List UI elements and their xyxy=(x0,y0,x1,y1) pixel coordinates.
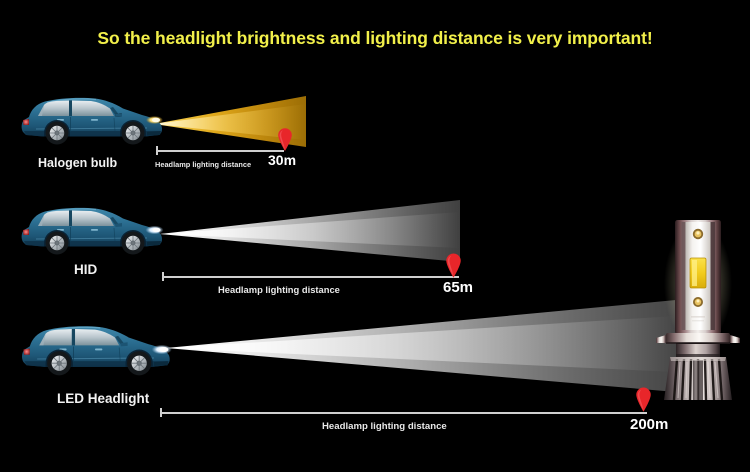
distance-hid: 65m xyxy=(443,279,473,296)
measure-axis xyxy=(156,150,284,152)
led-beam xyxy=(166,300,676,400)
distance-marker-halogen xyxy=(277,127,293,151)
distance-led: 200m xyxy=(630,416,668,433)
measure-line-halogen xyxy=(156,146,284,155)
infographic-canvas: So the headlight brightness and lighting… xyxy=(0,0,750,472)
measure-axis xyxy=(160,412,647,414)
led-headlight-bulb-product xyxy=(648,214,748,404)
distance-halogen: 30m xyxy=(268,152,296,168)
measure-start-tick xyxy=(160,408,162,417)
car-illustration-halogen xyxy=(16,90,166,148)
caption-halogen: Headlamp lighting distance xyxy=(155,160,251,169)
car-illustration-led xyxy=(16,318,174,379)
measure-start-tick xyxy=(156,146,158,155)
label-halogen: Halogen bulb xyxy=(38,156,117,170)
measure-line-hid xyxy=(162,272,459,281)
measure-axis xyxy=(162,276,459,278)
measure-line-led xyxy=(160,408,647,417)
distance-marker-hid xyxy=(445,252,462,278)
car-illustration-hid xyxy=(16,200,166,258)
hid-beam xyxy=(160,200,460,268)
caption-led: Headlamp lighting distance xyxy=(322,421,447,432)
measure-start-tick xyxy=(162,272,164,281)
label-hid: HID xyxy=(74,262,97,277)
page-title: So the headlight brightness and lighting… xyxy=(0,28,750,49)
label-led: LED Headlight xyxy=(57,391,149,406)
caption-hid: Headlamp lighting distance xyxy=(218,284,340,295)
